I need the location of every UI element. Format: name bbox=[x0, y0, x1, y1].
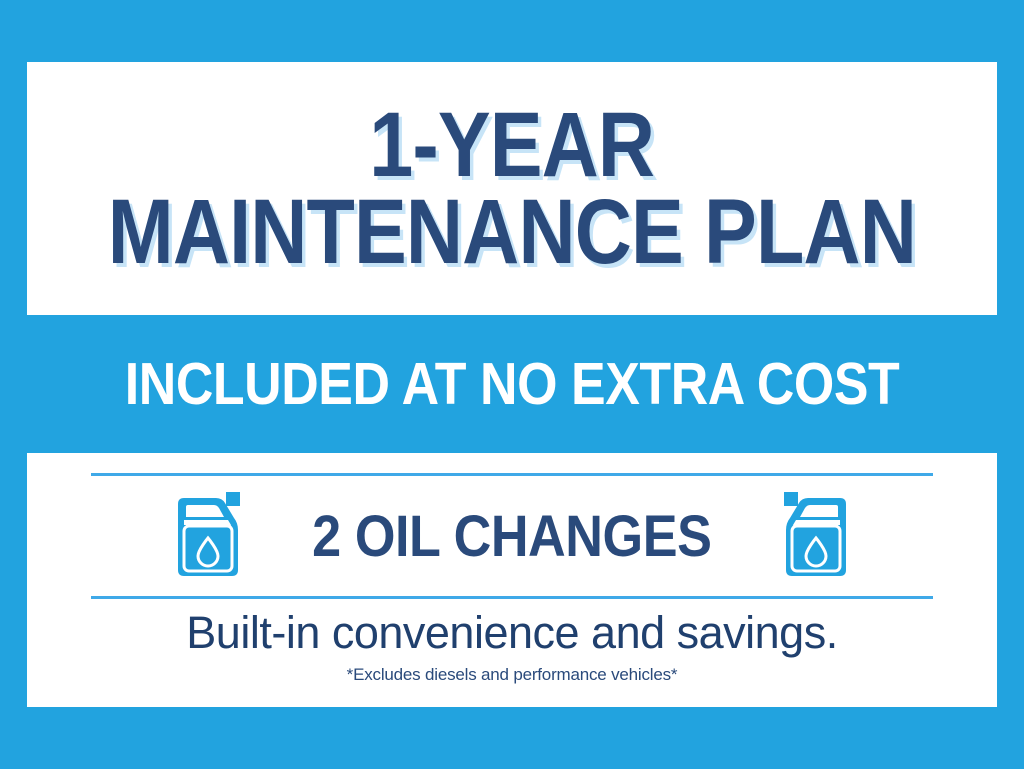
tagline-text: Built-in convenience and savings. bbox=[27, 607, 997, 659]
subtitle-band: INCLUDED AT NO EXTRA COST bbox=[27, 315, 997, 453]
maintenance-plan-poster: 1-YEAR MAINTENANCE PLAN INCLUDED AT NO E… bbox=[0, 0, 1024, 769]
oil-jug-icon-left bbox=[172, 490, 244, 582]
disclaimer-text: *Excludes diesels and performance vehicl… bbox=[27, 665, 997, 685]
offer-row: 2 OIL CHANGES bbox=[27, 476, 997, 596]
headline-panel: 1-YEAR MAINTENANCE PLAN bbox=[27, 62, 997, 315]
offer-panel: 2 OIL CHANGES Built-in convenience and s… bbox=[27, 453, 997, 707]
headline-line-2: MAINTENANCE PLAN bbox=[108, 189, 916, 275]
oil-jug-icon-right bbox=[780, 490, 852, 582]
headline-block: 1-YEAR MAINTENANCE PLAN bbox=[27, 62, 997, 315]
subtitle-text: INCLUDED AT NO EXTRA COST bbox=[125, 350, 900, 418]
offer-text: 2 OIL CHANGES bbox=[312, 503, 711, 570]
divider-bottom bbox=[91, 596, 933, 599]
headline-line-1: 1-YEAR bbox=[369, 102, 654, 188]
